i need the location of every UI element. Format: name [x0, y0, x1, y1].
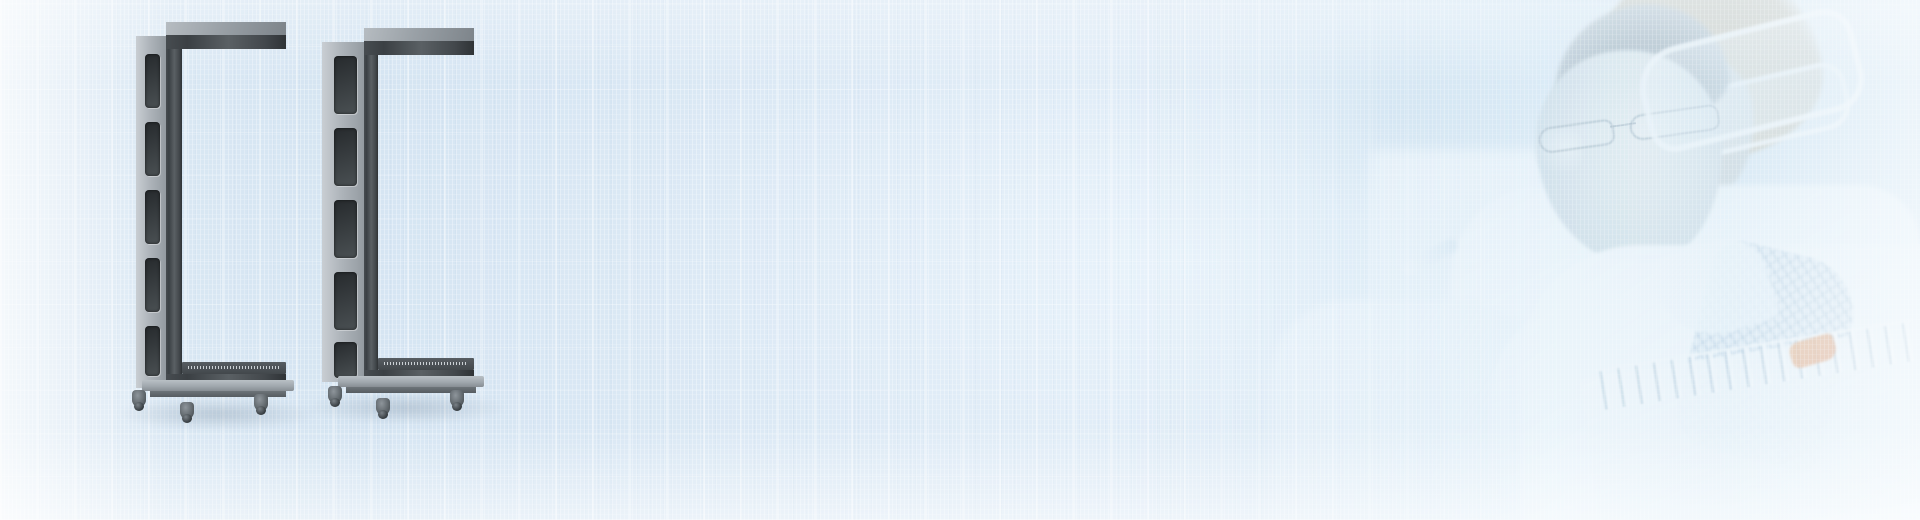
- rack-right: [322, 28, 474, 400]
- vent-slot: [334, 342, 356, 378]
- rack-right-base-label: [378, 358, 474, 370]
- vent-slot: [334, 272, 356, 330]
- vent-slot: [145, 122, 161, 176]
- caster-wheel: [450, 390, 464, 407]
- banner-text-block: [520, 130, 1280, 152]
- caster-wheel: [328, 386, 342, 403]
- caster-wheel: [180, 402, 194, 419]
- rack-left: [136, 22, 286, 402]
- rack-left-base-label: [182, 362, 286, 374]
- rack-left-base-plate: [142, 380, 294, 391]
- vent-slot: [334, 128, 356, 186]
- caster-wheel: [376, 398, 390, 415]
- vent-slot: [145, 190, 161, 244]
- caster-wheel: [132, 390, 146, 407]
- rack-right-side-panel: [322, 42, 370, 382]
- rack-left-side-panel: [136, 36, 170, 388]
- rack-right-base-plate: [338, 376, 484, 387]
- caster-wheel: [254, 394, 268, 411]
- rack-left-frame-top: [166, 35, 286, 49]
- vent-slot: [145, 258, 161, 312]
- vent-slot: [334, 56, 356, 114]
- rack-left-frame-left: [166, 35, 182, 385]
- rack-right-frame-top: [364, 41, 474, 55]
- vent-slot: [145, 54, 161, 108]
- promo-banner: [0, 0, 1920, 520]
- rack-right-frame-left: [364, 41, 378, 381]
- vent-slot: [334, 200, 356, 258]
- vent-slot: [145, 326, 161, 376]
- rack-left-shadow: [118, 398, 318, 430]
- background-vignette: [0, 0, 1920, 520]
